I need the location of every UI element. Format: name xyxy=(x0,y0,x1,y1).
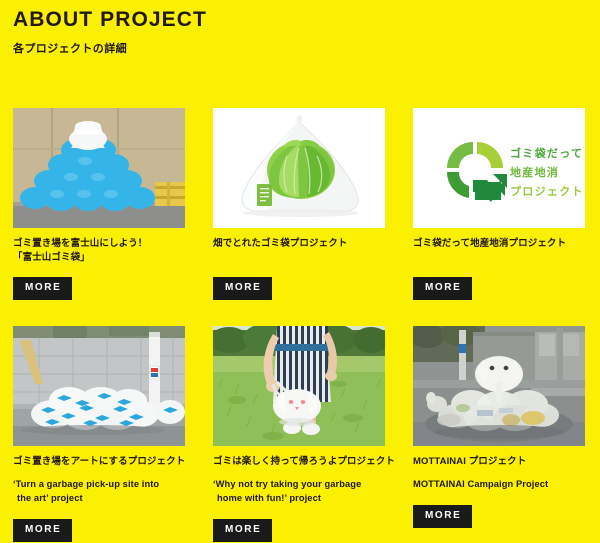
photo-blue-garbage-bags-mount-fuji[interactable] xyxy=(13,108,185,228)
fuji-bags-illustration xyxy=(13,108,185,228)
card-title-en: MOTTAINAI Campaign Project xyxy=(413,478,598,492)
card-title-jp: ゴミ置き場をアートにするプロジェクト xyxy=(13,455,195,469)
more-button[interactable]: MORE xyxy=(213,277,272,300)
logo-gomibukuro-chisan-chisho[interactable]: ゴミ袋だって 地産地消 プロジェクト xyxy=(413,108,585,228)
logo-text-line-3: プロジェクト xyxy=(510,184,584,198)
cabbage-bag-illustration xyxy=(213,108,385,228)
photo-fish-pattern-bags-on-street[interactable] xyxy=(13,326,185,446)
page-header: ABOUT PROJECT 各プロジェクトの詳細 xyxy=(0,0,600,56)
project-card-mottainai[interactable]: MOTTAINAI プロジェクト MOTTAINAI Campaign Proj… xyxy=(400,326,600,542)
project-row-1: ゴミ置き場を富士山にしよう！ 「富士山ゴミ袋」 MORE xyxy=(0,108,600,300)
card-title-en: ‘Turn a garbage pick-up site into the ar… xyxy=(13,478,198,506)
card-title-jp-line-1: ゴミは楽しく持って帰ろうよプロジェクト xyxy=(213,455,395,469)
card-title-en-line-2: home with fun!’ project xyxy=(213,492,398,506)
project-card-street-art[interactable]: ゴミ置き場をアートにするプロジェクト ‘Turn a garbage pick-… xyxy=(0,326,200,542)
card-title-en-line-1: ‘Why not try taking your garbage xyxy=(213,478,398,492)
card-title-jp-line-1: MOTTAINAI プロジェクト xyxy=(413,455,595,469)
card-title-jp-line-1: 畑でとれたゴミ袋プロジェクト xyxy=(213,237,395,251)
card-title-jp-line-1: ゴミ置き場を富士山にしよう！ xyxy=(13,237,195,251)
more-button[interactable]: MORE xyxy=(213,519,272,542)
card-title-jp-line-1: ゴミ袋だって地産地消プロジェクト xyxy=(413,237,595,251)
card-title-jp: 畑でとれたゴミ袋プロジェクト xyxy=(213,237,395,265)
logo-text-line-2: 地産地消 xyxy=(510,165,559,179)
page-title: ABOUT PROJECT xyxy=(13,9,600,31)
card-title-en: ‘Why not try taking your garbage home wi… xyxy=(213,478,398,506)
logo-text-line-1: ゴミ袋だって xyxy=(510,146,583,160)
photo-mottainai-elephant-bag-pile[interactable] xyxy=(413,326,585,446)
project-card-chisan-chisho[interactable]: ゴミ袋だって 地産地消 プロジェクト ゴミ袋だって地産地消プロジェクト MORE xyxy=(400,108,600,300)
project-grid: ゴミ置き場を富士山にしよう！ 「富士山ゴミ袋」 MORE xyxy=(0,108,600,542)
card-title-jp-line-1: ゴミ置き場をアートにするプロジェクト xyxy=(13,455,195,469)
project-card-fuji[interactable]: ゴミ置き場を富士山にしよう！ 「富士山ゴミ袋」 MORE xyxy=(0,108,200,300)
card-title-en-line-1: MOTTAINAI Campaign Project xyxy=(413,478,598,492)
project-card-carry-home[interactable]: ゴミは楽しく持って帰ろうよプロジェクト ‘Why not try taking … xyxy=(200,326,400,542)
page-subtitle: 各プロジェクトの詳細 xyxy=(13,40,600,56)
card-title-jp: MOTTAINAI プロジェクト xyxy=(413,455,595,469)
recycle-arrow-g-logo: ゴミ袋だって 地産地消 プロジェクト xyxy=(413,108,585,228)
card-title-en-line-2: the art’ project xyxy=(13,492,198,506)
project-card-cabbage[interactable]: 畑でとれたゴミ袋プロジェクト MORE xyxy=(200,108,400,300)
project-row-2: ゴミ置き場をアートにするプロジェクト ‘Turn a garbage pick-… xyxy=(0,326,600,542)
card-title-jp-line-2: 「富士山ゴミ袋」 xyxy=(13,251,195,265)
more-button[interactable]: MORE xyxy=(13,277,72,300)
card-title-jp: ゴミ置き場を富士山にしよう！ 「富士山ゴミ袋」 xyxy=(13,237,195,265)
fish-bags-illustration xyxy=(13,326,185,446)
more-button[interactable]: MORE xyxy=(413,505,472,528)
mottainai-pile-illustration xyxy=(413,326,585,446)
more-button[interactable]: MORE xyxy=(413,277,472,300)
card-title-jp: ゴミは楽しく持って帰ろうよプロジェクト xyxy=(213,455,395,469)
more-button[interactable]: MORE xyxy=(13,519,72,542)
photo-white-bag-with-cabbage-print[interactable] xyxy=(213,108,385,228)
photo-person-carrying-rabbit-bag-in-park[interactable] xyxy=(213,326,385,446)
park-rabbit-bag-illustration xyxy=(213,326,385,446)
card-title-en-line-1: ‘Turn a garbage pick-up site into xyxy=(13,478,198,492)
card-title-jp: ゴミ袋だって地産地消プロジェクト xyxy=(413,237,595,265)
